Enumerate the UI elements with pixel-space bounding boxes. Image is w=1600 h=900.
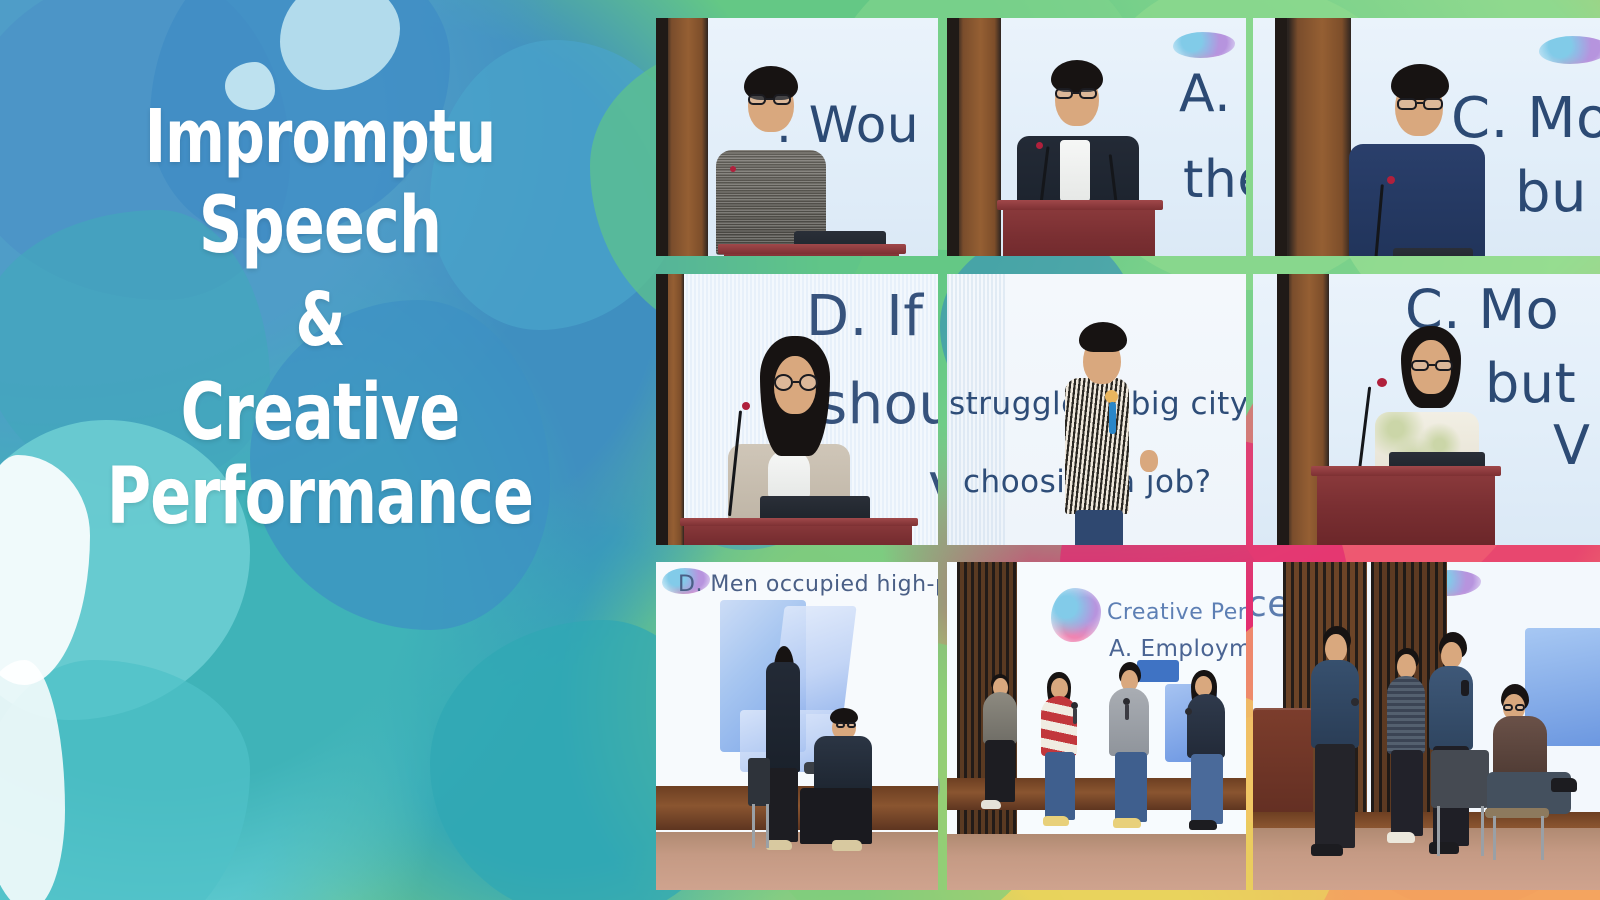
photo-8[interactable]: Creative Performance A. Employment xyxy=(947,562,1246,890)
photo-cell[interactable]: C. Mo but V xyxy=(1246,266,1600,554)
photo-3[interactable]: C. Mo bu xyxy=(1253,18,1600,256)
photo-1-slide-text: . Wou xyxy=(776,96,919,154)
watercolor-blotch-light xyxy=(225,62,275,110)
photo-1[interactable]: . Wou xyxy=(656,18,938,256)
photo-9[interactable]: ce xyxy=(1253,562,1600,890)
photo-6[interactable]: C. Mo but V xyxy=(1253,274,1600,545)
photo-6-slide-text-b: but xyxy=(1485,352,1576,415)
photo-4[interactable]: D. If y shou v xyxy=(656,274,938,545)
photo-4-slide-text-c: v xyxy=(928,452,938,517)
photo-4-slide-text-b: shou xyxy=(818,372,938,437)
photo-cell[interactable]: A. the xyxy=(938,0,1246,266)
photo-cell[interactable]: Creative Performance A. Employment xyxy=(938,554,1246,900)
photo-cell[interactable]: C. Mo bu xyxy=(1246,0,1600,266)
photo-3-slide-text-a: C. Mo xyxy=(1451,86,1600,151)
photo-cell[interactable]: D. Men occupied high-p xyxy=(638,554,938,900)
photo-7[interactable]: D. Men occupied high-p xyxy=(656,562,938,890)
photo-cell[interactable]: ce xyxy=(1246,554,1600,900)
photo-2-slide-text-a: A. xyxy=(1179,64,1231,124)
photo-2[interactable]: A. the xyxy=(947,18,1246,256)
photo-2-slide-text-b: the xyxy=(1183,150,1246,210)
photo-cell[interactable]: . Wou xyxy=(638,0,938,266)
photo-3-slide-text-b: bu xyxy=(1515,160,1587,225)
photo-cell[interactable]: struggle in big city li choosing a job? xyxy=(938,266,1246,554)
photo-cell[interactable]: D. If y shou v xyxy=(638,266,938,554)
photo-8-slide-title: Creative Performance xyxy=(1107,600,1246,625)
photo-grid: . Wou xyxy=(638,0,1600,900)
photo-6-slide-text-c: V xyxy=(1553,414,1590,477)
photo-8-slide-text: A. Employment xyxy=(1109,636,1246,662)
photo-5[interactable]: struggle in big city li choosing a job? xyxy=(947,274,1246,545)
photo-7-slide-text: D. Men occupied high-p xyxy=(678,572,938,597)
photo-4-slide-text-a: D. If y xyxy=(806,284,938,349)
poster-canvas: Impromptu Speech & Creative Performance … xyxy=(0,0,1600,900)
